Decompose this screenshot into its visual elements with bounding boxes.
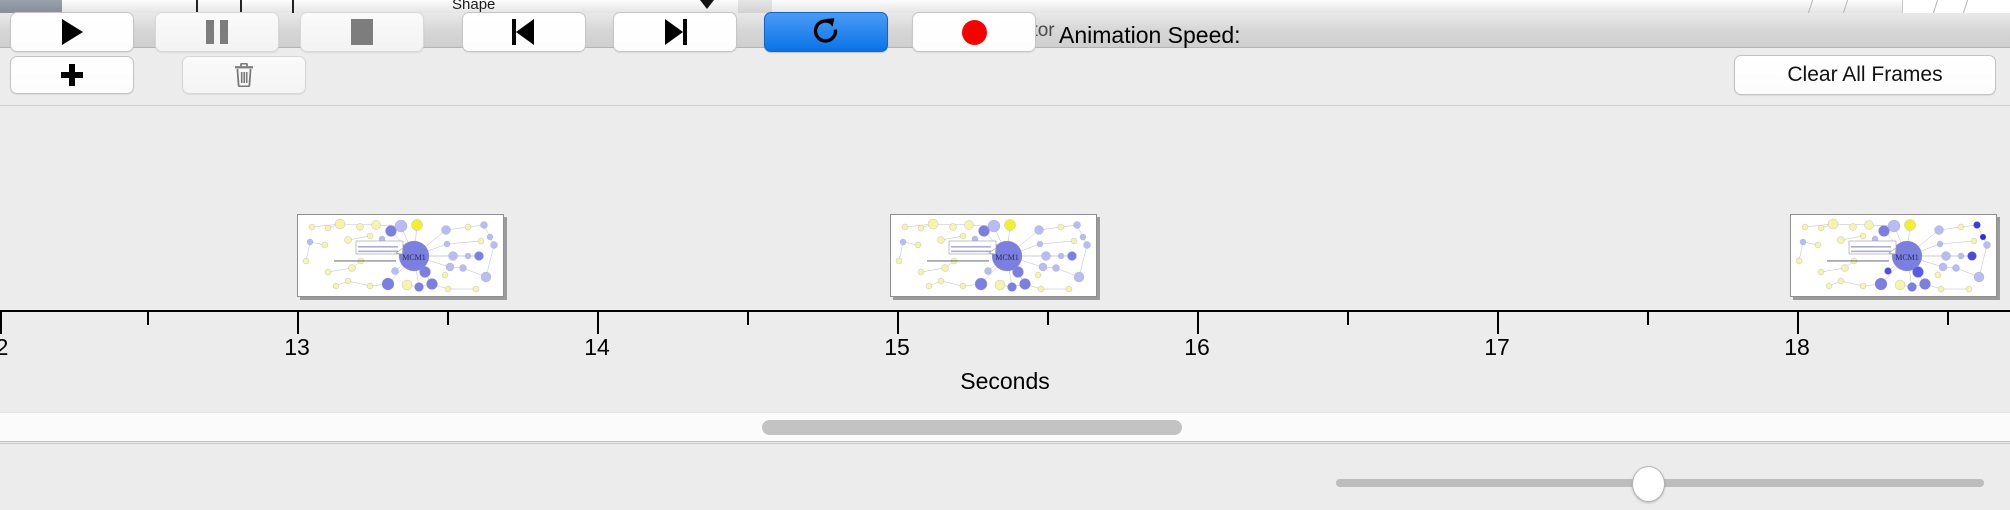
timeline-axis <box>0 310 2010 312</box>
animation-speed-label: Animation Speed: <box>1059 22 1241 49</box>
record-icon <box>962 20 987 45</box>
pause-icon <box>206 20 228 44</box>
animation-speed-slider-thumb[interactable] <box>1632 466 1665 502</box>
cyanimator-window: Shape CyAnimator Clear All Frames MCM1 M… <box>0 0 2010 510</box>
hub-node-label: MCM1 <box>1895 253 1919 262</box>
bg-segment <box>738 0 773 13</box>
axis-tick-minor <box>747 312 749 325</box>
skip-backward-button[interactable] <box>462 12 586 52</box>
bg-divider <box>292 0 294 13</box>
axis-tick-label: 13 <box>284 334 310 361</box>
axis-tick-minor <box>147 312 149 325</box>
axis-tick-minor <box>1947 312 1949 325</box>
hub-node-label: MCM1 <box>995 253 1019 262</box>
bg-caret-icon <box>700 0 714 9</box>
timeline-frame-thumbnail[interactable]: MCM1 <box>297 214 504 297</box>
timeline-scrollbar[interactable] <box>0 412 2010 442</box>
axis-tick-major <box>1197 312 1199 334</box>
axis-tick-major <box>1797 312 1799 334</box>
loop-button[interactable] <box>764 12 888 52</box>
axis-tick-major <box>897 312 899 334</box>
timeline-scrollbar-thumb[interactable] <box>762 420 1182 435</box>
axis-tick-label: 18 <box>1784 334 1810 361</box>
bg-divider <box>1933 0 1938 13</box>
axis-tick-major <box>597 312 599 334</box>
record-button[interactable] <box>912 12 1036 52</box>
bg-divider <box>196 0 198 12</box>
play-button[interactable] <box>10 12 134 52</box>
bg-divider <box>1963 0 1968 13</box>
timeline-panel[interactable]: MCM1 MCM1 MCM1 2 13 14 15 16 17 18 Secon… <box>0 106 2010 406</box>
axis-tick-minor <box>447 312 449 325</box>
timeline-frame-thumbnail[interactable]: MCM1 <box>1790 214 1997 297</box>
timeline-frame-thumbnail[interactable]: MCM1 <box>890 214 1097 297</box>
hub-node-label: MCM1 <box>402 253 426 262</box>
axis-tick-major <box>1497 312 1499 334</box>
stop-icon <box>351 19 373 45</box>
add-frame-button[interactable] <box>10 56 134 94</box>
stop-button[interactable] <box>300 12 424 52</box>
axis-tick-label: 17 <box>1484 334 1510 361</box>
axis-title: Seconds <box>0 368 2010 395</box>
axis-tick-minor <box>1647 312 1649 325</box>
playback-control-bar <box>0 443 2010 510</box>
skip-backward-icon <box>512 19 536 45</box>
axis-tick-major <box>297 312 299 334</box>
axis-tick-label: 15 <box>884 334 910 361</box>
pause-button[interactable] <box>155 12 279 52</box>
axis-tick-minor <box>1047 312 1049 325</box>
trash-icon <box>234 63 254 87</box>
skip-forward-icon <box>663 19 687 45</box>
plus-icon <box>61 64 83 86</box>
axis-tick-label: 14 <box>584 334 610 361</box>
network-thumbnail: MCM1 <box>298 215 504 297</box>
axis-tick-minor <box>1347 312 1349 325</box>
network-thumbnail: MCM1 <box>1791 215 1997 297</box>
delete-frame-button[interactable] <box>182 56 306 94</box>
axis-tick-label: 16 <box>1184 334 1210 361</box>
network-thumbnail: MCM1 <box>891 215 1097 297</box>
axis-tick-major <box>0 312 2 334</box>
axis-tick-label: 2 <box>0 334 8 361</box>
skip-forward-button[interactable] <box>613 12 737 52</box>
loop-icon <box>812 17 840 47</box>
clear-all-frames-button[interactable]: Clear All Frames <box>1734 55 1996 95</box>
play-icon <box>62 19 83 45</box>
